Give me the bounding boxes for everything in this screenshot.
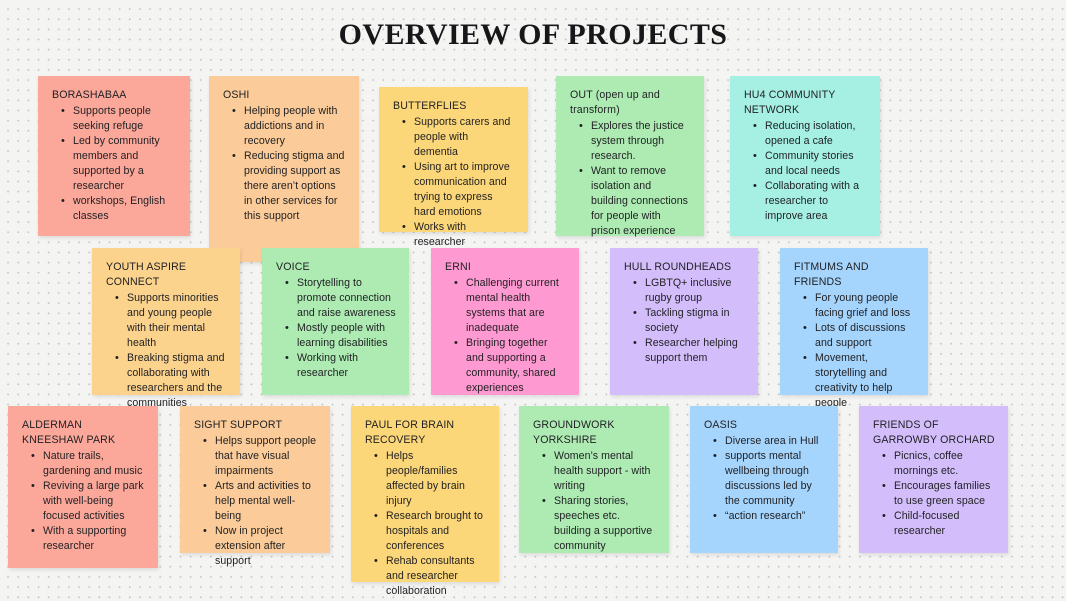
sticky-note-title: HU4 COMMUNITY NETWORK [744,88,867,118]
sticky-note-bullet: Picnics, coffee mornings etc. [881,449,995,479]
sticky-note-bullet: Led by community members and supported b… [60,134,177,194]
sticky-note-title: GROUNDWORK YORKSHIRE [533,418,656,448]
sticky-note-bullet-list: Helping people with addictions and in re… [223,104,346,224]
sticky-note-bullet: Lots of discussions and support [802,321,915,351]
sticky-note-bullet-list: Diverse area in Hullsupports mental well… [704,434,825,524]
sticky-note-title: OUT (open up and transform) [570,88,691,118]
sticky-note-fitmums-and-friends[interactable]: FITMUMS AND FRIENDSFor young people faci… [780,248,928,395]
sticky-note-title: ERNI [445,260,566,275]
sticky-note-bullet: Movement, storytelling and creativity to… [802,351,915,411]
sticky-note-title: OSHI [223,88,346,103]
sticky-note-bullet: Diverse area in Hull [712,434,825,449]
sticky-note-bullet-list: Supports people seeking refugeLed by com… [52,104,177,224]
sticky-note-bullet: workshops, English classes [60,194,177,224]
sticky-note-title: FITMUMS AND FRIENDS [794,260,915,290]
sticky-note-bullet: Reducing stigma and providing support as… [231,149,346,224]
sticky-note-bullet-list: Challenging current mental health system… [445,276,566,396]
sticky-note-title: BUTTERFLIES [393,99,515,114]
sticky-note-bullet: Nature trails, gardening and music [30,449,145,479]
sticky-note-oasis[interactable]: OASISDiverse area in Hullsupports mental… [690,406,838,553]
sticky-note-bullet: Sharing stories, speeches etc. building … [541,494,656,554]
sticky-note-bullet: Storytelling to promote connection and r… [284,276,396,321]
sticky-note-friends-of-garrowby-orchard[interactable]: FRIENDS OF GARROWBY ORCHARDPicnics, coff… [859,406,1008,553]
sticky-note-bullet-list: Supports minorities and young people wit… [106,291,227,411]
sticky-note-hu4-community-network[interactable]: HU4 COMMUNITY NETWORKReducing isolation,… [730,76,880,236]
sticky-note-hull-roundheads[interactable]: HULL ROUNDHEADSLGBTQ+ inclusive rugby gr… [610,248,758,395]
sticky-note-title: FRIENDS OF GARROWBY ORCHARD [873,418,995,448]
sticky-note-bullet-list: Picnics, coffee mornings etc.Encourages … [873,449,995,539]
sticky-note-bullet-list: Helps people/families affected by brain … [365,449,486,599]
sticky-note-butterflies[interactable]: BUTTERFLIESSupports carers and people wi… [379,87,528,232]
sticky-note-youth-aspire-connect[interactable]: YOUTH ASPIRE CONNECTSupports minorities … [92,248,240,395]
sticky-note-bullet: Using art to improve communication and t… [401,160,515,220]
sticky-note-bullet: Supports carers and people with dementia [401,115,515,160]
sticky-note-groundwork-yorkshire[interactable]: GROUNDWORK YORKSHIREWomen’s mental healt… [519,406,669,553]
sticky-note-bullet: Arts and activities to help mental well-… [202,479,317,524]
sticky-note-bullet: Explores the justice system through rese… [578,119,691,164]
sticky-note-bullet: Want to remove isolation and building co… [578,164,691,239]
sticky-note-bullet: Helping people with addictions and in re… [231,104,346,149]
sticky-note-paul-for-brain-recovery[interactable]: PAUL FOR BRAIN RECOVERYHelps people/fami… [351,406,499,582]
whiteboard-canvas[interactable]: OVERVIEW OF PROJECTS BORASHABAASupports … [0,0,1066,601]
sticky-note-sight-support[interactable]: SIGHT SUPPORTHelps support people that h… [180,406,330,553]
sticky-note-erni[interactable]: ERNIChallenging current mental health sy… [431,248,579,395]
page-title: OVERVIEW OF PROJECTS [0,18,1066,52]
sticky-note-bullet: Researcher helping support them [632,336,745,366]
sticky-note-bullet-list: Storytelling to promote connection and r… [276,276,396,381]
sticky-note-bullet: Child-focused researcher [881,509,995,539]
sticky-note-voice[interactable]: VOICEStorytelling to promote connection … [262,248,409,395]
sticky-note-title: YOUTH ASPIRE CONNECT [106,260,227,290]
sticky-note-bullet: Rehab consultants and researcher collabo… [373,554,486,599]
sticky-note-out[interactable]: OUT (open up and transform)Explores the … [556,76,704,236]
sticky-note-title: HULL ROUNDHEADS [624,260,745,275]
sticky-note-bullet-list: Explores the justice system through rese… [570,119,691,239]
sticky-note-bullet: Supports minorities and young people wit… [114,291,227,351]
sticky-note-bullet: Helps people/families affected by brain … [373,449,486,509]
sticky-note-bullet: Reducing isolation, opened a cafe [752,119,867,149]
sticky-note-bullet: With a supporting researcher [30,524,145,554]
sticky-note-bullet: Encourages families to use green space [881,479,995,509]
sticky-note-borashabaa[interactable]: BORASHABAASupports people seeking refuge… [38,76,190,236]
sticky-note-title: BORASHABAA [52,88,177,103]
sticky-note-bullet: Challenging current mental health system… [453,276,566,336]
sticky-note-title: SIGHT SUPPORT [194,418,317,433]
sticky-note-alderman-kneeshaw-park[interactable]: ALDERMAN KNEESHAW PARKNature trails, gar… [8,406,158,568]
sticky-note-bullet: Helps support people that have visual im… [202,434,317,479]
sticky-note-bullet: Now in project extension after support [202,524,317,569]
sticky-note-bullet: Breaking stigma and collaborating with r… [114,351,227,411]
sticky-note-bullet: Reviving a large park with well-being fo… [30,479,145,524]
sticky-note-bullet: Collaborating with a researcher to impro… [752,179,867,224]
sticky-note-bullet: Supports people seeking refuge [60,104,177,134]
sticky-note-title: VOICE [276,260,396,275]
sticky-note-title: OASIS [704,418,825,433]
sticky-note-bullet: “action research” [712,509,825,524]
sticky-note-bullet-list: Women’s mental health support - with wri… [533,449,656,554]
sticky-note-bullet-list: For young people facing grief and lossLo… [794,291,915,411]
sticky-note-bullet: supports mental wellbeing through discus… [712,449,825,509]
sticky-note-bullet: Bringing together and supporting a commu… [453,336,566,396]
sticky-note-bullet: Research brought to hospitals and confer… [373,509,486,554]
sticky-note-bullet: LGBTQ+ inclusive rugby group [632,276,745,306]
sticky-note-bullet: Mostly people with learning disabilities [284,321,396,351]
sticky-note-oshi[interactable]: OSHIHelping people with addictions and i… [209,76,359,262]
sticky-note-bullet: Women’s mental health support - with wri… [541,449,656,494]
sticky-note-bullet: For young people facing grief and loss [802,291,915,321]
sticky-note-bullet-list: LGBTQ+ inclusive rugby groupTackling sti… [624,276,745,366]
sticky-note-bullet: Working with researcher [284,351,396,381]
sticky-note-bullet: Community stories and local needs [752,149,867,179]
sticky-note-bullet-list: Supports carers and people with dementia… [393,115,515,250]
sticky-note-bullet-list: Reducing isolation, opened a cafeCommuni… [744,119,867,224]
sticky-note-bullet-list: Helps support people that have visual im… [194,434,317,569]
sticky-note-bullet-list: Nature trails, gardening and musicRevivi… [22,449,145,554]
sticky-note-title: ALDERMAN KNEESHAW PARK [22,418,145,448]
sticky-note-bullet: Works with researcher [401,220,515,250]
sticky-note-bullet: Tackling stigma in society [632,306,745,336]
sticky-note-title: PAUL FOR BRAIN RECOVERY [365,418,486,448]
